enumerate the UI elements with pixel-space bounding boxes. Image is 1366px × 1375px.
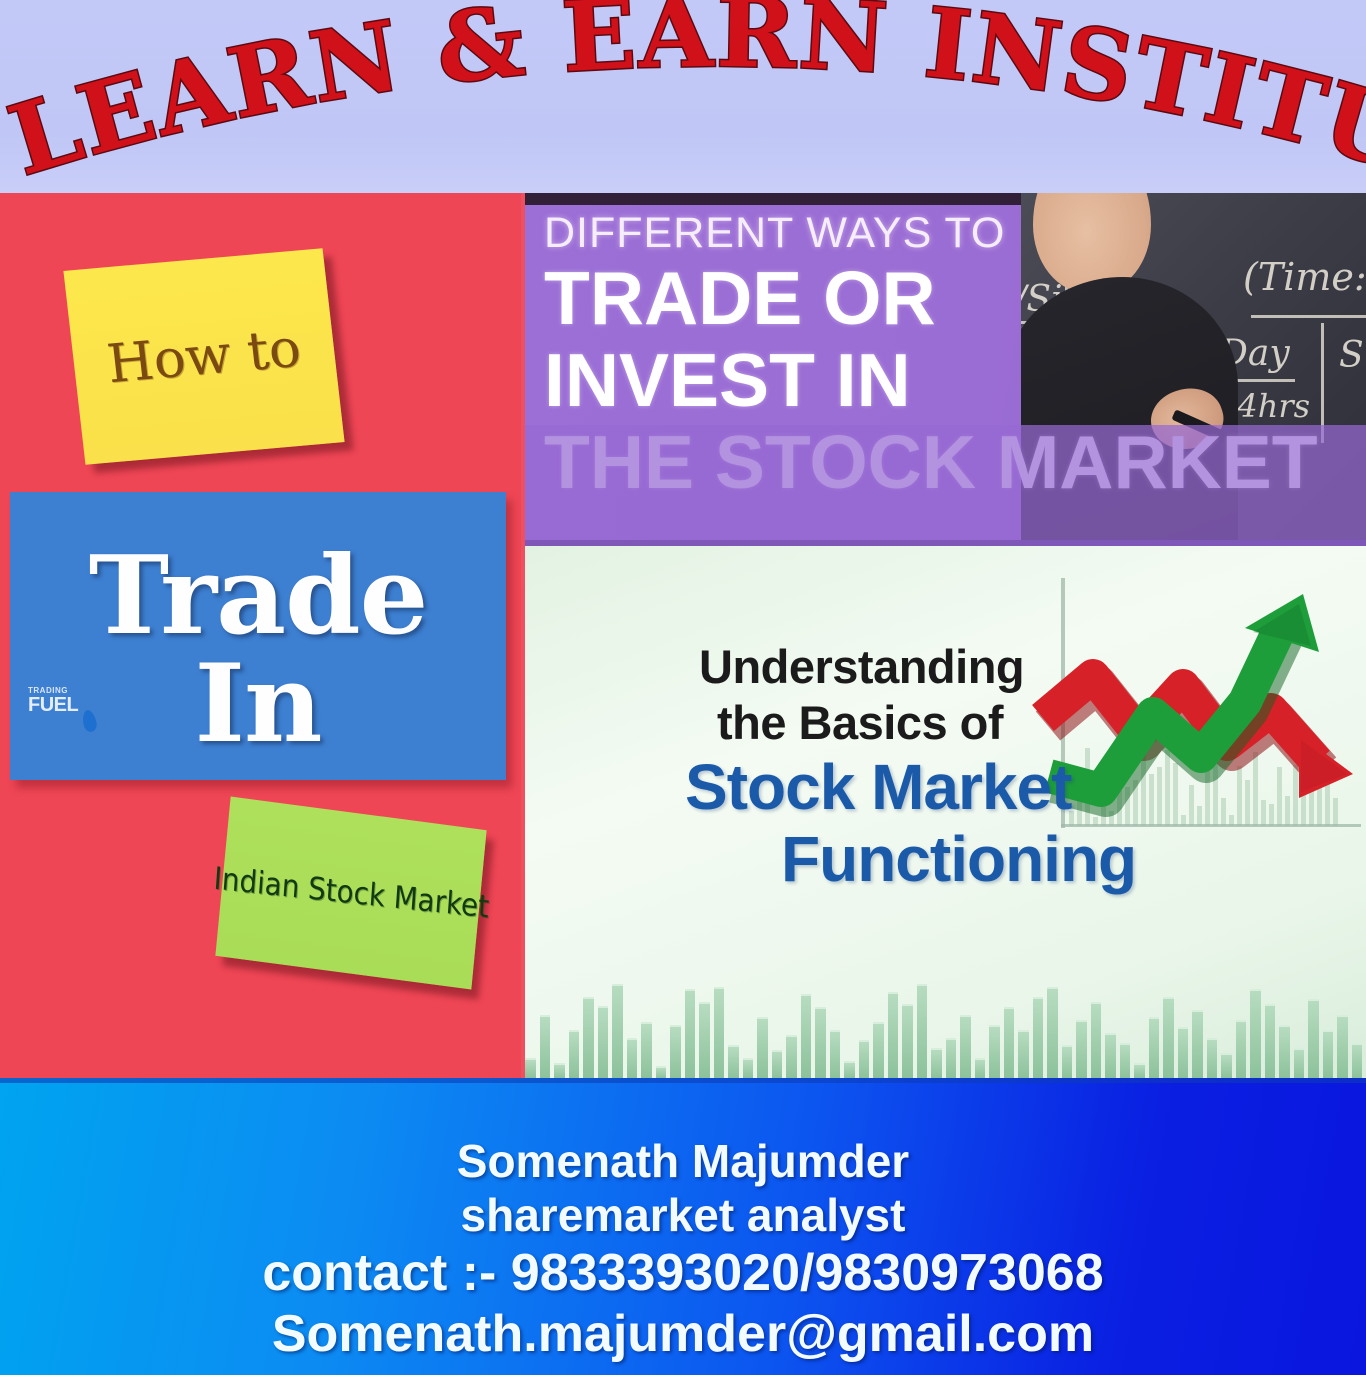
footer-top-edge (0, 1078, 1366, 1083)
poster-root: LEARN & EARN INSTITUTE How to Trade In T… (0, 0, 1366, 1375)
volume-bar (1076, 1020, 1087, 1078)
volume-bar (1178, 1027, 1189, 1078)
green-headline-line4: Functioning (781, 823, 1136, 895)
sticky-note-how-to: How to (63, 248, 344, 464)
volume-bar (540, 1015, 551, 1078)
volume-bar (757, 1017, 768, 1078)
volume-bar (685, 989, 696, 1078)
volume-bar (902, 1004, 913, 1078)
purple-left-edge (521, 193, 525, 546)
volume-bar (975, 1058, 986, 1078)
header-banner: LEARN & EARN INSTITUTE (0, 0, 1366, 193)
volume-bar (1279, 1025, 1290, 1078)
volume-bar (1091, 1002, 1102, 1078)
footer-contact: contact :- 9833393020/9830973068 (0, 1243, 1366, 1304)
volume-bar (554, 1063, 565, 1078)
trading-fuel-logo: TRADING FUEL (28, 686, 94, 732)
left-red-panel: How to Trade In TRADING FUEL Indian Stoc… (0, 193, 521, 1078)
volume-bar (612, 984, 623, 1078)
volume-bar (1105, 1033, 1116, 1078)
volume-bar (714, 987, 725, 1078)
green-basics-panel: Understanding the Basics of Stock Market… (521, 546, 1366, 1078)
volume-bar (1163, 997, 1174, 1078)
volume-bar (1120, 1043, 1131, 1078)
volume-bar (1192, 1010, 1203, 1078)
volume-bar (1323, 1030, 1334, 1078)
volume-bar (656, 1066, 667, 1078)
volume-bar (1294, 1048, 1305, 1078)
volume-bar (931, 1048, 942, 1078)
green-headline-line3: Stock Market (685, 751, 1136, 823)
volume-bar (873, 1022, 884, 1078)
volume-bar (627, 1038, 638, 1078)
header-title: LEARN & EARN INSTITUTE (0, 0, 1366, 193)
purple-bottom-bar (521, 540, 1366, 546)
footer-text-block: Somenath Majumder sharemarket analyst co… (0, 1134, 1366, 1365)
volume-bar (917, 984, 928, 1078)
volume-bar (801, 994, 812, 1078)
volume-bar (583, 997, 594, 1078)
volume-bar (844, 1061, 855, 1078)
volume-bar (569, 1030, 580, 1078)
footer-email: Somenath.majumder@gmail.com (0, 1304, 1366, 1365)
volume-bar (830, 1030, 841, 1078)
green-left-edge (521, 546, 525, 1078)
volume-bar (859, 1040, 870, 1078)
green-panel-headline: Understanding the Basics of Stock Market… (699, 639, 1136, 895)
volume-bar (1033, 997, 1044, 1078)
volume-bar (960, 1015, 971, 1078)
purple-overlay-wash (521, 425, 1366, 546)
volume-bar (1062, 1045, 1073, 1078)
volume-bar (1047, 987, 1058, 1078)
volume-bar (1308, 999, 1319, 1078)
volume-bar (946, 1038, 957, 1078)
sticky-note-indian-stock-market-label: Indian Stock Market (212, 861, 490, 926)
header-arch-svg: LEARN & EARN INSTITUTE (0, 0, 1366, 193)
footer-name: Somenath Majumder (0, 1134, 1366, 1188)
volume-bar (670, 1025, 681, 1078)
volume-bar (1134, 1063, 1145, 1078)
trade-in-card: Trade In TRADING FUEL (10, 492, 506, 780)
volume-bar (1221, 1053, 1232, 1078)
volume-bar (598, 1006, 609, 1078)
purple-headline-line2: TRADE OR (544, 257, 1364, 339)
volume-bar (699, 1002, 710, 1078)
green-headline-line2: the Basics of (717, 695, 1136, 751)
volume-bar (1265, 1004, 1276, 1078)
purple-banner-panel: e/Size Blue 30-2 (Time: Day 24hrs S Rund (521, 193, 1366, 546)
sticky-note-indian-stock-market: Indian Stock Market (215, 797, 486, 990)
volume-bar (815, 1007, 826, 1078)
volume-bar (1352, 1043, 1363, 1078)
volume-bar (1149, 1017, 1160, 1078)
volume-bar (989, 1025, 1000, 1078)
volume-bar (743, 1058, 754, 1078)
volume-bar (1004, 1007, 1015, 1078)
green-headline-line1: Understanding (699, 639, 1136, 695)
volume-bar (728, 1045, 739, 1078)
volume-bar (1018, 1030, 1029, 1078)
volume-bar (1337, 1015, 1348, 1078)
collage-area: How to Trade In TRADING FUEL Indian Stoc… (0, 193, 1366, 1078)
purple-headline-line3: INVEST IN (544, 339, 1364, 421)
volume-bar (888, 992, 899, 1078)
header-title-text: LEARN & EARN INSTITUTE (0, 0, 1366, 193)
volume-bar (772, 1050, 783, 1078)
volume-bar (1207, 1038, 1218, 1078)
footer-role: sharemarket analyst (0, 1188, 1366, 1242)
sticky-note-how-to-label: How to (104, 318, 304, 395)
volume-bar (1250, 989, 1261, 1078)
volume-bar (525, 1058, 536, 1078)
purple-headline-line1: DIFFERENT WAYS TO (544, 209, 1364, 257)
contact-footer: Somenath Majumder sharemarket analyst co… (0, 1078, 1366, 1375)
volume-bar (786, 1035, 797, 1078)
volume-bar-chart (521, 982, 1366, 1078)
volume-bar (641, 1022, 652, 1078)
volume-bar (1236, 1020, 1247, 1078)
